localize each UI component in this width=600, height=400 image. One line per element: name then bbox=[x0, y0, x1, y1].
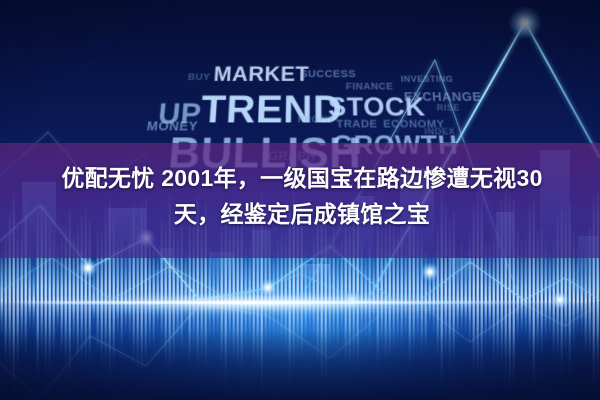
word-cloud-word: INVESTING bbox=[401, 75, 454, 83]
banner-image: TRENDMARKETSTOCKBULLISHGROWTHUPMONEYEXCH… bbox=[0, 0, 600, 400]
word-cloud-word: BUY bbox=[187, 73, 210, 82]
word-cloud-word: ECONOMY bbox=[383, 119, 445, 130]
word-cloud-word: FINANCE bbox=[346, 83, 394, 92]
word-cloud-word: MONEY bbox=[146, 119, 198, 132]
word-cloud-word: RISE bbox=[436, 104, 460, 113]
word-cloud-word: SUCCESS bbox=[300, 70, 356, 80]
reflection-line bbox=[0, 301, 600, 304]
trend-node bbox=[428, 270, 432, 274]
headline-text: 优配无忧 2001年，一级国宝在路边惨遭无视30 天，经鉴定后成镇馆之宝 bbox=[24, 160, 580, 232]
word-cloud-word: UP bbox=[157, 100, 203, 129]
word-cloud-word: MARKET bbox=[213, 64, 309, 84]
headline-line-2: 天，经鉴定后成镇馆之宝 bbox=[24, 196, 580, 232]
word-cloud-word: TREND bbox=[200, 90, 343, 129]
trend-node bbox=[86, 266, 90, 270]
bottom-fade-overlay bbox=[0, 330, 600, 400]
headline-line-1: 优配无忧 2001年，一级国宝在路边惨遭无视30 bbox=[24, 160, 580, 196]
top-fade-overlay bbox=[0, 0, 600, 60]
word-cloud-word: EXCHANGE bbox=[404, 90, 483, 102]
